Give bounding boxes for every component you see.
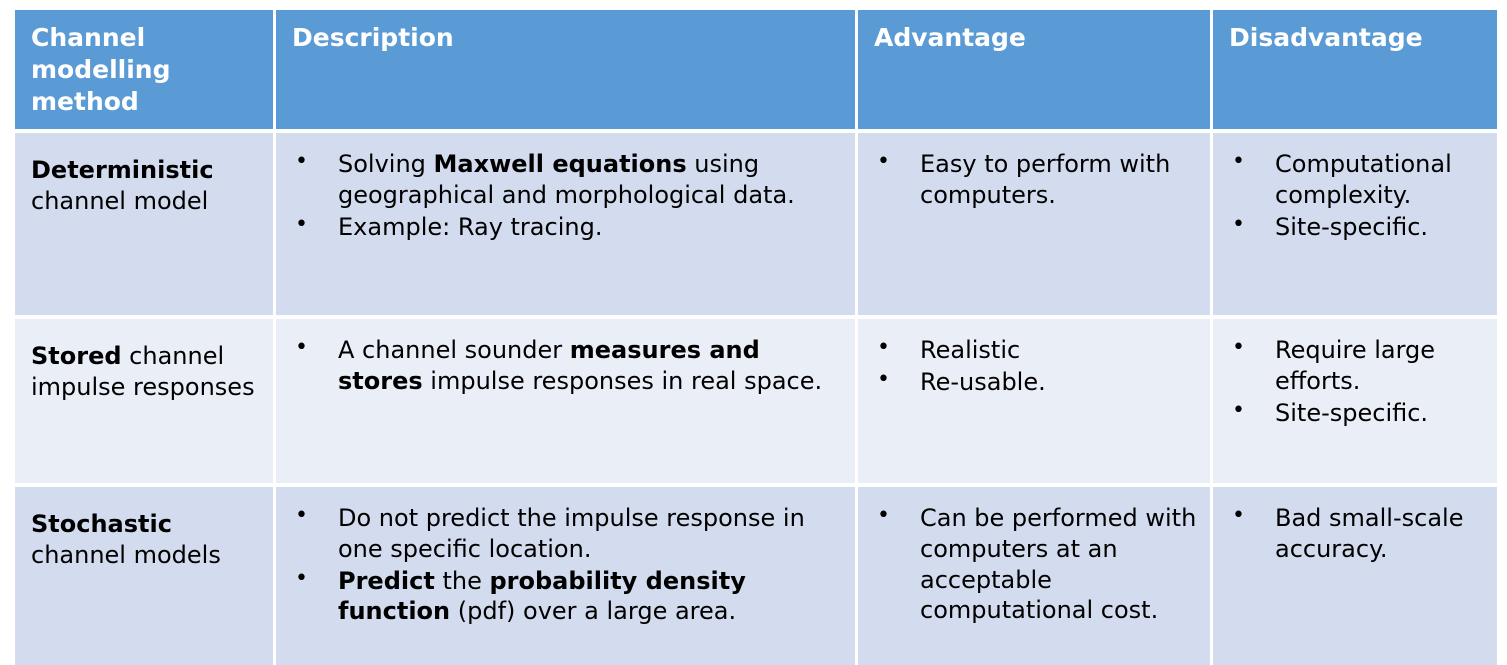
bullet-list: A channel sounder measures and stores im… bbox=[292, 335, 843, 396]
column-header-method: Channel modelling method bbox=[15, 10, 276, 129]
bullet-list: Solving Maxwell equations using geograph… bbox=[292, 149, 843, 242]
bullet-list: Can be performed with computers at an ac… bbox=[874, 503, 1198, 626]
cell-advantage: Easy to perform with computers. bbox=[858, 129, 1213, 315]
list-item: Site-specific. bbox=[1229, 212, 1485, 243]
column-header-advantage: Advantage bbox=[858, 10, 1213, 129]
comparison-table: Channel modelling method Description Adv… bbox=[15, 10, 1497, 665]
bullet-list: Bad small-scale accuracy. bbox=[1229, 503, 1485, 564]
cell-disadvantage: Computational complexity. Site-specific. bbox=[1213, 129, 1497, 315]
cell-advantage: Realistic Re-usable. bbox=[858, 315, 1213, 483]
list-item: A channel sounder measures and stores im… bbox=[292, 335, 843, 396]
method-name: Stochastic bbox=[31, 510, 172, 538]
table-row: Stored channel impulse responses A chann… bbox=[15, 315, 1497, 483]
bullet-list: Realistic Re-usable. bbox=[874, 335, 1198, 397]
list-item: Easy to perform with computers. bbox=[874, 149, 1198, 210]
list-item: Example: Ray tracing. bbox=[292, 212, 843, 243]
list-item: Solving Maxwell equations using geograph… bbox=[292, 149, 843, 210]
list-item: Computational complexity. bbox=[1229, 149, 1485, 210]
column-header-description: Description bbox=[276, 10, 858, 129]
bullet-list: Easy to perform with computers. bbox=[874, 149, 1198, 210]
cell-disadvantage: Require large efforts. Site-specific. bbox=[1213, 315, 1497, 483]
list-item: Predict the probability density function… bbox=[292, 566, 843, 627]
list-item: Require large efforts. bbox=[1229, 335, 1485, 396]
list-item: Site-specific. bbox=[1229, 398, 1485, 429]
table-header-row: Channel modelling method Description Adv… bbox=[15, 10, 1497, 129]
cell-method: Stored channel impulse responses bbox=[15, 315, 276, 483]
cell-method: Deterministic channel model bbox=[15, 129, 276, 315]
cell-disadvantage: Bad small-scale accuracy. bbox=[1213, 483, 1497, 665]
table-row: Stochastic channel models Do not predict… bbox=[15, 483, 1497, 665]
cell-description: Solving Maxwell equations using geograph… bbox=[276, 129, 858, 315]
method-suffix: channel models bbox=[31, 541, 221, 569]
table-row: Deterministic channel model Solving Maxw… bbox=[15, 129, 1497, 315]
method-suffix: channel model bbox=[31, 187, 208, 215]
list-item: Do not predict the impulse response in o… bbox=[292, 503, 843, 564]
method-name: Deterministic bbox=[31, 156, 214, 184]
channel-modelling-comparison-table: Channel modelling method Description Adv… bbox=[15, 10, 1497, 665]
cell-method: Stochastic channel models bbox=[15, 483, 276, 665]
bullet-list: Require large efforts. Site-specific. bbox=[1229, 335, 1485, 428]
bullet-list: Do not predict the impulse response in o… bbox=[292, 503, 843, 627]
method-name: Stored bbox=[31, 342, 122, 370]
table-body: Deterministic channel model Solving Maxw… bbox=[15, 129, 1497, 665]
cell-description: A channel sounder measures and stores im… bbox=[276, 315, 858, 483]
bullet-list: Computational complexity. Site-specific. bbox=[1229, 149, 1485, 242]
list-item: Can be performed with computers at an ac… bbox=[874, 503, 1198, 626]
cell-description: Do not predict the impulse response in o… bbox=[276, 483, 858, 665]
list-item: Realistic bbox=[874, 335, 1198, 366]
cell-advantage: Can be performed with computers at an ac… bbox=[858, 483, 1213, 665]
list-item: Re-usable. bbox=[874, 367, 1198, 398]
list-item: Bad small-scale accuracy. bbox=[1229, 503, 1485, 564]
column-header-disadvantage: Disadvantage bbox=[1213, 10, 1497, 129]
